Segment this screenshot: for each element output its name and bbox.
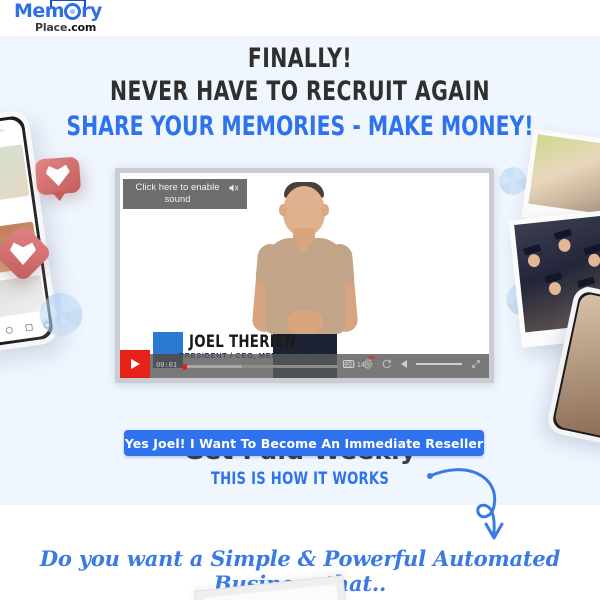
settings-gear-icon[interactable]: HD (363, 359, 373, 369)
volume-slider[interactable] (416, 363, 462, 365)
camera-aperture-icon (38, 291, 84, 337)
logo-wordmark: Memry (14, 2, 118, 21)
hd-badge: HD (369, 355, 376, 360)
enable-sound-label: Click here to enable sound (132, 182, 224, 206)
logo-text-place: Place (35, 21, 67, 34)
fullscreen-icon[interactable] (471, 359, 481, 369)
headline-share-memories: SHARE YOUR MEMORIES - MAKE MONEY! (48, 110, 552, 144)
site-header: Memry Place.com (0, 0, 600, 36)
headline-never-recruit: NEVER HAVE TO RECRUIT AGAIN (48, 74, 552, 110)
headline-finally: FINALLY! (48, 44, 552, 74)
enable-sound-overlay[interactable]: Click here to enable sound (123, 179, 247, 209)
seek-bar[interactable] (183, 365, 338, 368)
current-time: 00:01 (156, 361, 177, 369)
thumbnail (0, 144, 29, 205)
closed-captions-icon[interactable]: CC (343, 360, 354, 368)
play-icon[interactable] (120, 350, 150, 378)
volume-icon[interactable] (401, 360, 407, 368)
camera-aperture-icon (498, 166, 528, 196)
speaker-muted-icon (228, 183, 239, 197)
replay-loop-icon[interactable] (382, 359, 392, 369)
video-player[interactable]: Click here to enable sound JOEL THERIEN … (115, 168, 494, 383)
curved-down-arrow-icon (424, 462, 516, 544)
logo-text-dotcom: .com (67, 21, 96, 34)
heart-icon (45, 163, 70, 187)
like-bubble-decor (35, 157, 81, 196)
site-logo[interactable]: Memry Place.com (14, 2, 118, 34)
presenter-name: JOEL THERIEN (189, 332, 296, 351)
video-control-bar[interactable]: 00:01 02:14 CC HD (120, 354, 489, 378)
hero-section: FINALLY! NEVER HAVE TO RECRUIT AGAIN SHA… (0, 36, 600, 505)
camera-lens-icon (64, 3, 81, 20)
logo-subtext: Place.com (35, 22, 118, 34)
cta-reseller-button[interactable]: Yes Joel! I Want To Become An Immediate … (124, 430, 484, 456)
heart-icon (10, 241, 36, 265)
hero-headlines: FINALLY! NEVER HAVE TO RECRUIT AGAIN SHA… (0, 44, 600, 144)
